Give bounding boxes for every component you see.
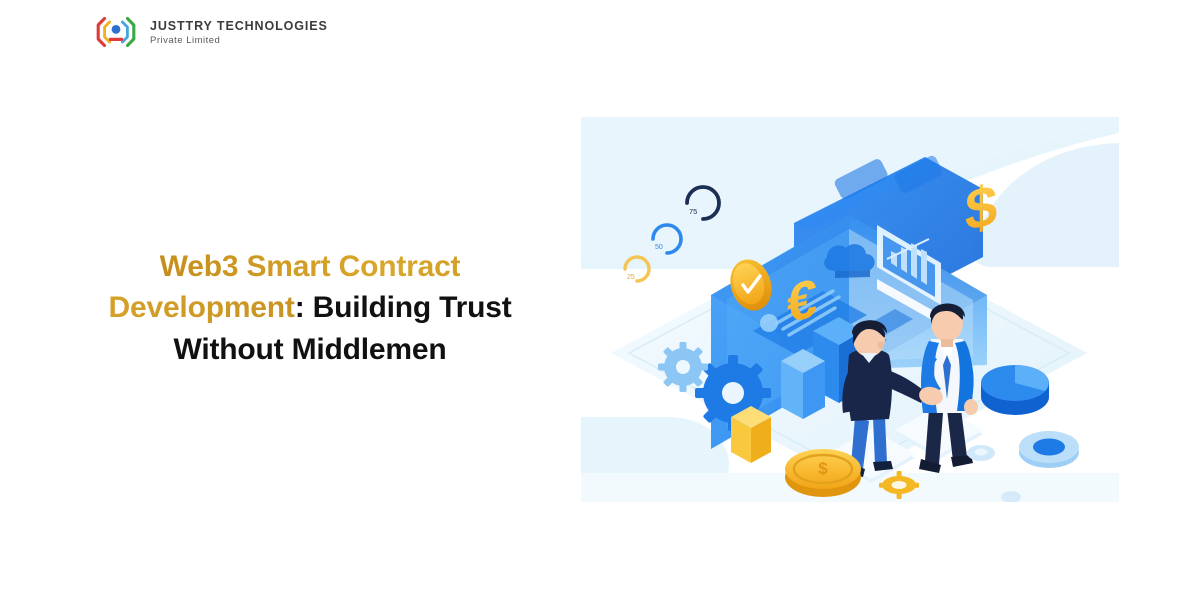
svg-text:€: € [787,266,817,335]
svg-text:50: 50 [655,244,663,251]
svg-text:$: $ [818,459,828,478]
isometric-handshake-blockchain-illustration: 25 50 75 € $ [581,117,1119,502]
svg-text:25: 25 [627,274,635,281]
brand-logo-lockup[interactable]: JUSTTRY TECHNOLOGIES Private Limited [93,12,328,52]
dollar-symbol-icon: $ [965,173,997,244]
euro-symbol-icon: € [787,266,817,335]
gear-small-icon [658,342,708,392]
donut-ring-small [967,445,995,461]
brand-subtitle: Private Limited [150,35,328,47]
brand-text-block: JUSTTRY TECHNOLOGIES Private Limited [150,17,328,48]
page-title: Web3 Smart Contract Development: Buildin… [60,246,560,370]
blog-banner: JUSTTRY TECHNOLOGIES Private Limited Web… [0,0,1200,600]
svg-text:75: 75 [689,207,697,216]
hexagon-bracket-logo-icon [93,12,139,52]
donut-ring [1019,431,1079,468]
svg-text:$: $ [965,173,997,244]
dollar-coin-ground-icon: $ [785,449,861,497]
brand-name: JUSTTRY TECHNOLOGIES [150,19,328,33]
pie-chart-cylinder [981,365,1049,415]
